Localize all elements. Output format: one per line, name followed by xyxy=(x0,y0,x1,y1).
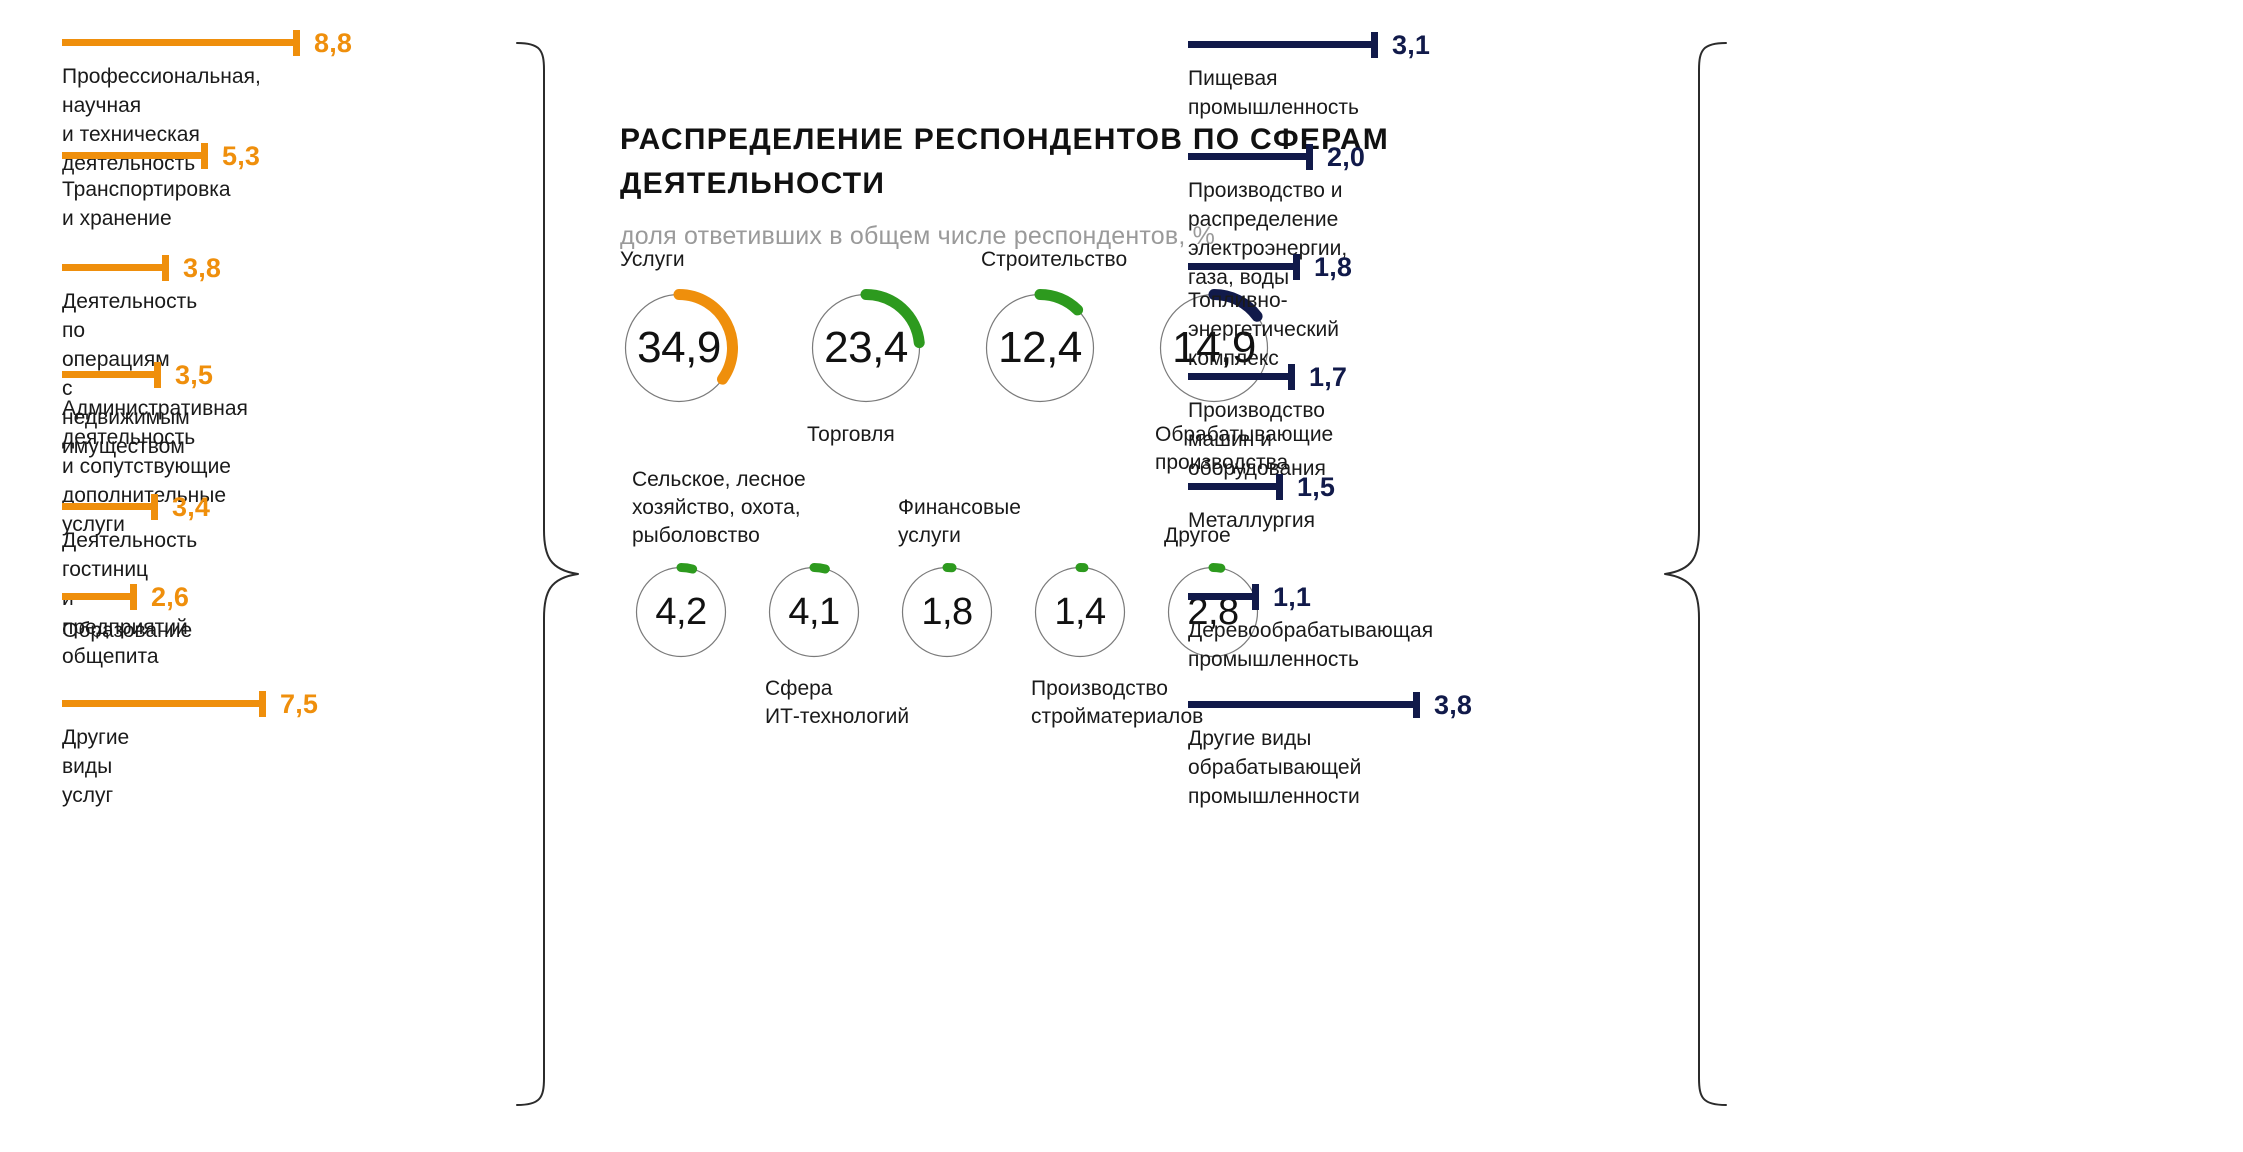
right-brace-icon xyxy=(1663,40,1727,1108)
sector-donut: 12,4 xyxy=(981,289,1099,407)
manufacturing-value: 2,0 xyxy=(1327,142,1365,173)
services-bar xyxy=(62,152,202,159)
manufacturing-value: 1,5 xyxy=(1297,472,1335,503)
subsector-donut: 4,2 xyxy=(632,563,730,661)
manufacturing-bar xyxy=(1188,263,1294,270)
manufacturing-bar xyxy=(1188,701,1414,708)
manufacturing-bar xyxy=(1188,153,1307,160)
manufacturing-value: 1,1 xyxy=(1273,582,1311,613)
services-label: Транспортировка и хранение xyxy=(62,175,231,233)
subsector-donut-value: 4,2 xyxy=(632,563,730,661)
services-value: 2,6 xyxy=(151,582,189,613)
services-bar xyxy=(62,371,155,378)
services-bar-endcap xyxy=(151,494,158,520)
manufacturing-bar xyxy=(1188,593,1253,600)
manufacturing-bar xyxy=(1188,483,1277,490)
services-bar-endcap xyxy=(130,584,137,610)
sector-donut: 23,4 xyxy=(807,289,925,407)
manufacturing-label: Производство машин и оборудования xyxy=(1188,396,1326,483)
services-bar-endcap xyxy=(162,255,169,281)
services-value: 3,8 xyxy=(183,253,221,284)
manufacturing-bar-endcap xyxy=(1288,364,1295,390)
subsector-donut-value: 1,8 xyxy=(898,563,996,661)
services-bar xyxy=(62,593,131,600)
services-label: Образование xyxy=(62,616,192,645)
sector-donut-value: 34,9 xyxy=(620,289,738,407)
right-brace-connector xyxy=(1663,40,1727,1108)
manufacturing-bar-endcap xyxy=(1413,692,1420,718)
manufacturing-label: Пищевая промышленность xyxy=(1188,64,1359,122)
services-bar-endcap xyxy=(293,30,300,56)
manufacturing-label: Металлургия xyxy=(1188,506,1315,535)
manufacturing-bar xyxy=(1188,373,1289,380)
center-panel: РАСПРЕДЕЛЕНИЕ РЕСПОНДЕНТОВ ПО СФЕРАМ ДЕЯ… xyxy=(620,0,1660,1152)
subsector-donut-value: 1,4 xyxy=(1031,563,1129,661)
left-brace-connector xyxy=(516,40,580,1108)
page-title: РАСПРЕДЕЛЕНИЕ РЕСПОНДЕНТОВ ПО СФЕРАМ ДЕЯ… xyxy=(620,118,1550,206)
manufacturing-value: 1,8 xyxy=(1314,252,1352,283)
services-value: 3,5 xyxy=(175,360,213,391)
subsector-donut: 1,4 xyxy=(1031,563,1129,661)
services-bar xyxy=(62,39,294,46)
sector-donut-label: Услуги xyxy=(620,246,840,274)
manufacturing-bar xyxy=(1188,41,1372,48)
services-bar xyxy=(62,264,163,271)
services-bar-endcap xyxy=(201,143,208,169)
manufacturing-bar-endcap xyxy=(1293,254,1300,280)
services-bar xyxy=(62,700,260,707)
manufacturing-bar-endcap xyxy=(1371,32,1378,58)
subsector-donut: 1,8 xyxy=(898,563,996,661)
services-bar-endcap xyxy=(154,362,161,388)
sector-donut-label: Строительство xyxy=(981,246,1201,274)
sector-donut-label: Торговля xyxy=(807,421,1027,449)
services-value: 8,8 xyxy=(314,28,352,59)
services-value: 5,3 xyxy=(222,141,260,172)
subsector-donut-label: Сельское, лесное хозяйство, охота, рыбол… xyxy=(632,466,832,550)
services-value: 3,4 xyxy=(172,492,210,523)
subsector-donut-label: Сфера ИТ-технологий xyxy=(765,675,965,731)
sector-donut-value: 23,4 xyxy=(807,289,925,407)
manufacturing-value: 3,1 xyxy=(1392,30,1430,61)
manufacturing-label: Другие виды обрабатывающей промышленност… xyxy=(1188,724,1361,811)
manufacturing-label: Деревообрабатывающая промышленность xyxy=(1188,616,1433,674)
services-bar xyxy=(62,503,152,510)
services-bar-endcap xyxy=(259,691,266,717)
services-value: 7,5 xyxy=(280,689,318,720)
sector-donut: 34,9 xyxy=(620,289,738,407)
manufacturing-value: 1,7 xyxy=(1309,362,1347,393)
subsector-donut: 4,1 xyxy=(765,563,863,661)
left-brace-icon xyxy=(516,40,580,1108)
infographic-canvas: 8,8Профессиональная, научная и техническ… xyxy=(0,0,2243,1152)
services-label: Другие виды услуг xyxy=(62,723,129,810)
sector-donut-value: 12,4 xyxy=(981,289,1099,407)
manufacturing-bar-endcap xyxy=(1276,474,1283,500)
subsector-donut-label: Финансовые услуги xyxy=(898,494,1098,550)
subsector-donut-value: 4,1 xyxy=(765,563,863,661)
manufacturing-bar-endcap xyxy=(1306,144,1313,170)
manufacturing-value: 3,8 xyxy=(1434,690,1472,721)
manufacturing-label: Топливно-энергетический комплекс xyxy=(1188,286,1339,373)
manufacturing-bar-endcap xyxy=(1252,584,1259,610)
